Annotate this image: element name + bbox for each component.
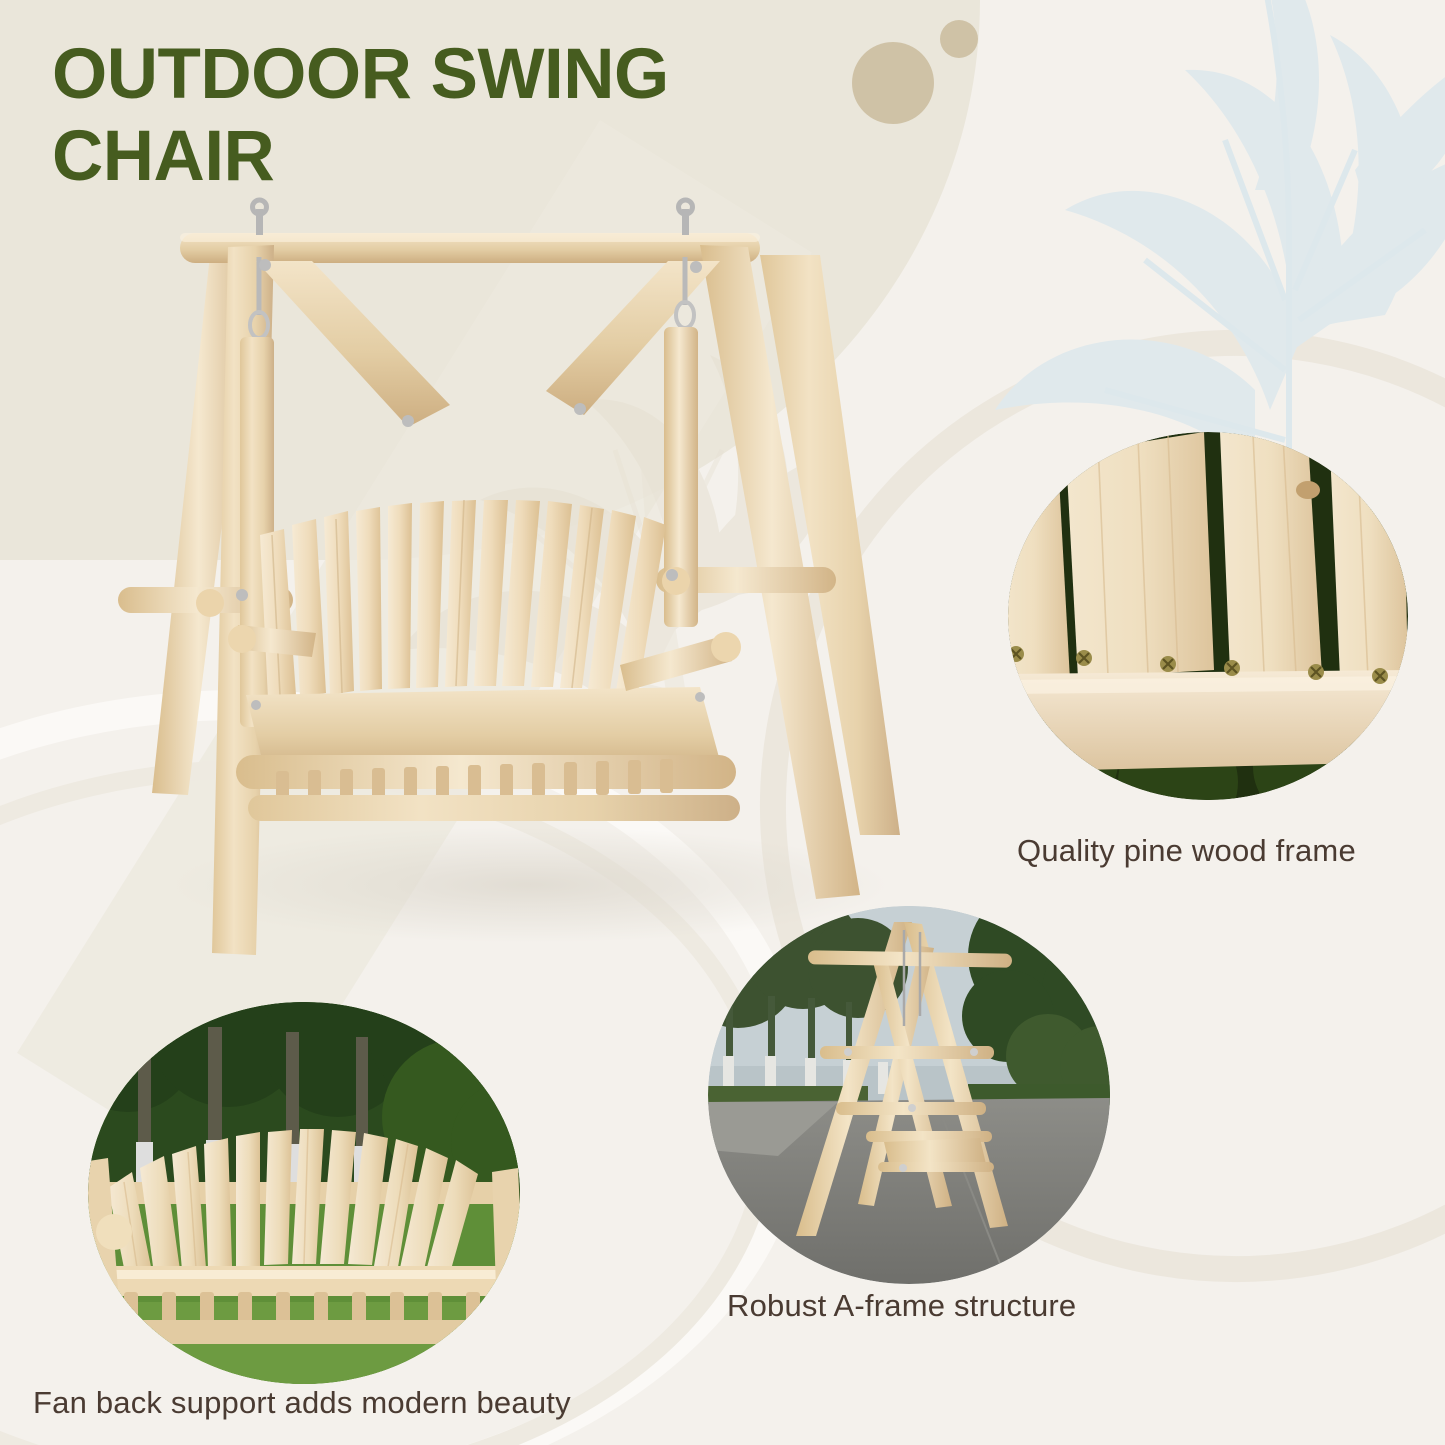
feature-image-quality-pine-wood-frame [1008, 432, 1408, 800]
decor-leaf-blue-icon [955, 0, 1445, 500]
poster-canvas: OUTDOOR SWING CHAIR [0, 0, 1445, 1445]
feature-caption-robust-a-frame-structure: Robust A-frame structure [727, 1288, 1076, 1324]
hero-product-image [60, 195, 960, 975]
feature-caption-fan-back-support: Fan back support adds modern beauty [33, 1385, 571, 1421]
decor-circle-large [852, 42, 934, 124]
feature-image-fan-back-support [88, 1002, 520, 1384]
feature-image-robust-a-frame-structure [708, 906, 1110, 1284]
feature-caption-quality-pine-wood-frame: Quality pine wood frame [1017, 833, 1356, 869]
page-title: OUTDOOR SWING CHAIR [52, 34, 752, 198]
